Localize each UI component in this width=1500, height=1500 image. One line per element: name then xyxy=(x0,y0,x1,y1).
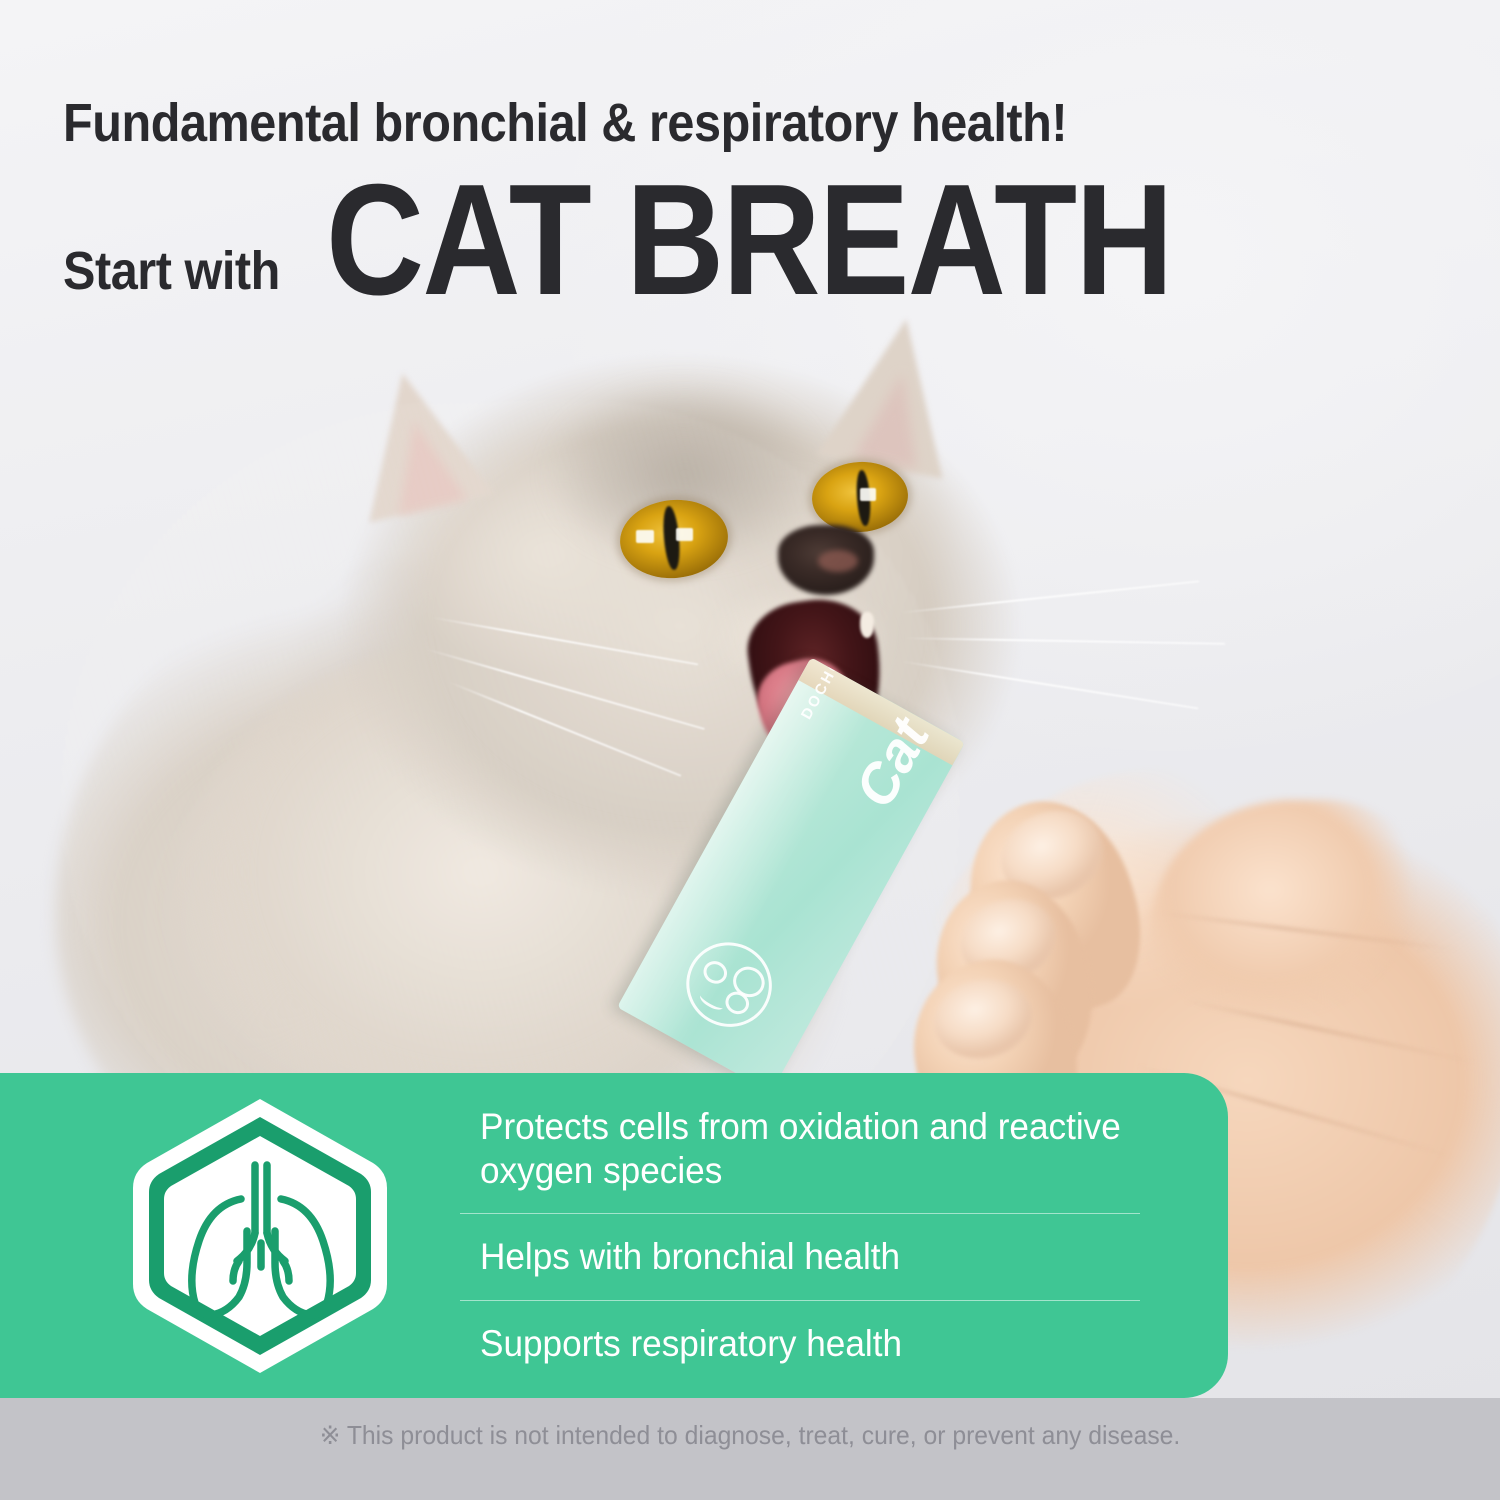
benefit-item: Supports respiratory health xyxy=(480,1301,1145,1387)
cat-tooth xyxy=(860,612,874,638)
cat-eye-glint xyxy=(676,528,693,541)
headline-tagline: Fundamental bronchial & respiratory heal… xyxy=(63,92,1067,154)
hand-knuckle xyxy=(1150,800,1450,1100)
benefit-item: Helps with bronchial health xyxy=(480,1214,1145,1300)
headline-start-with: Start with xyxy=(63,244,280,306)
cat-eye-glint xyxy=(860,488,876,501)
headline-brand-name: CAT BREATH xyxy=(326,176,1172,306)
headline-main-row: Start with CAT BREATH xyxy=(63,176,1310,306)
cat-eye-glint xyxy=(636,530,654,543)
benefits-panel: Protects cells from oxidation and reacti… xyxy=(0,1073,1228,1398)
benefits-list: Protects cells from oxidation and reacti… xyxy=(480,1073,1180,1398)
benefit-item: Protects cells from oxidation and reacti… xyxy=(480,1085,1145,1213)
lungs-hexagon-icon xyxy=(115,1091,405,1381)
product-advertisement: DOCHOR BY Cat breath Fundamental bronchi… xyxy=(0,0,1500,1500)
logo-eye-left-icon xyxy=(699,957,731,988)
cat-nostril xyxy=(818,550,858,572)
logo-mouth-icon xyxy=(698,990,727,1013)
legal-disclaimer: ※ This product is not intended to diagno… xyxy=(38,1420,1463,1451)
lungs-hexagon-svg xyxy=(115,1091,405,1381)
